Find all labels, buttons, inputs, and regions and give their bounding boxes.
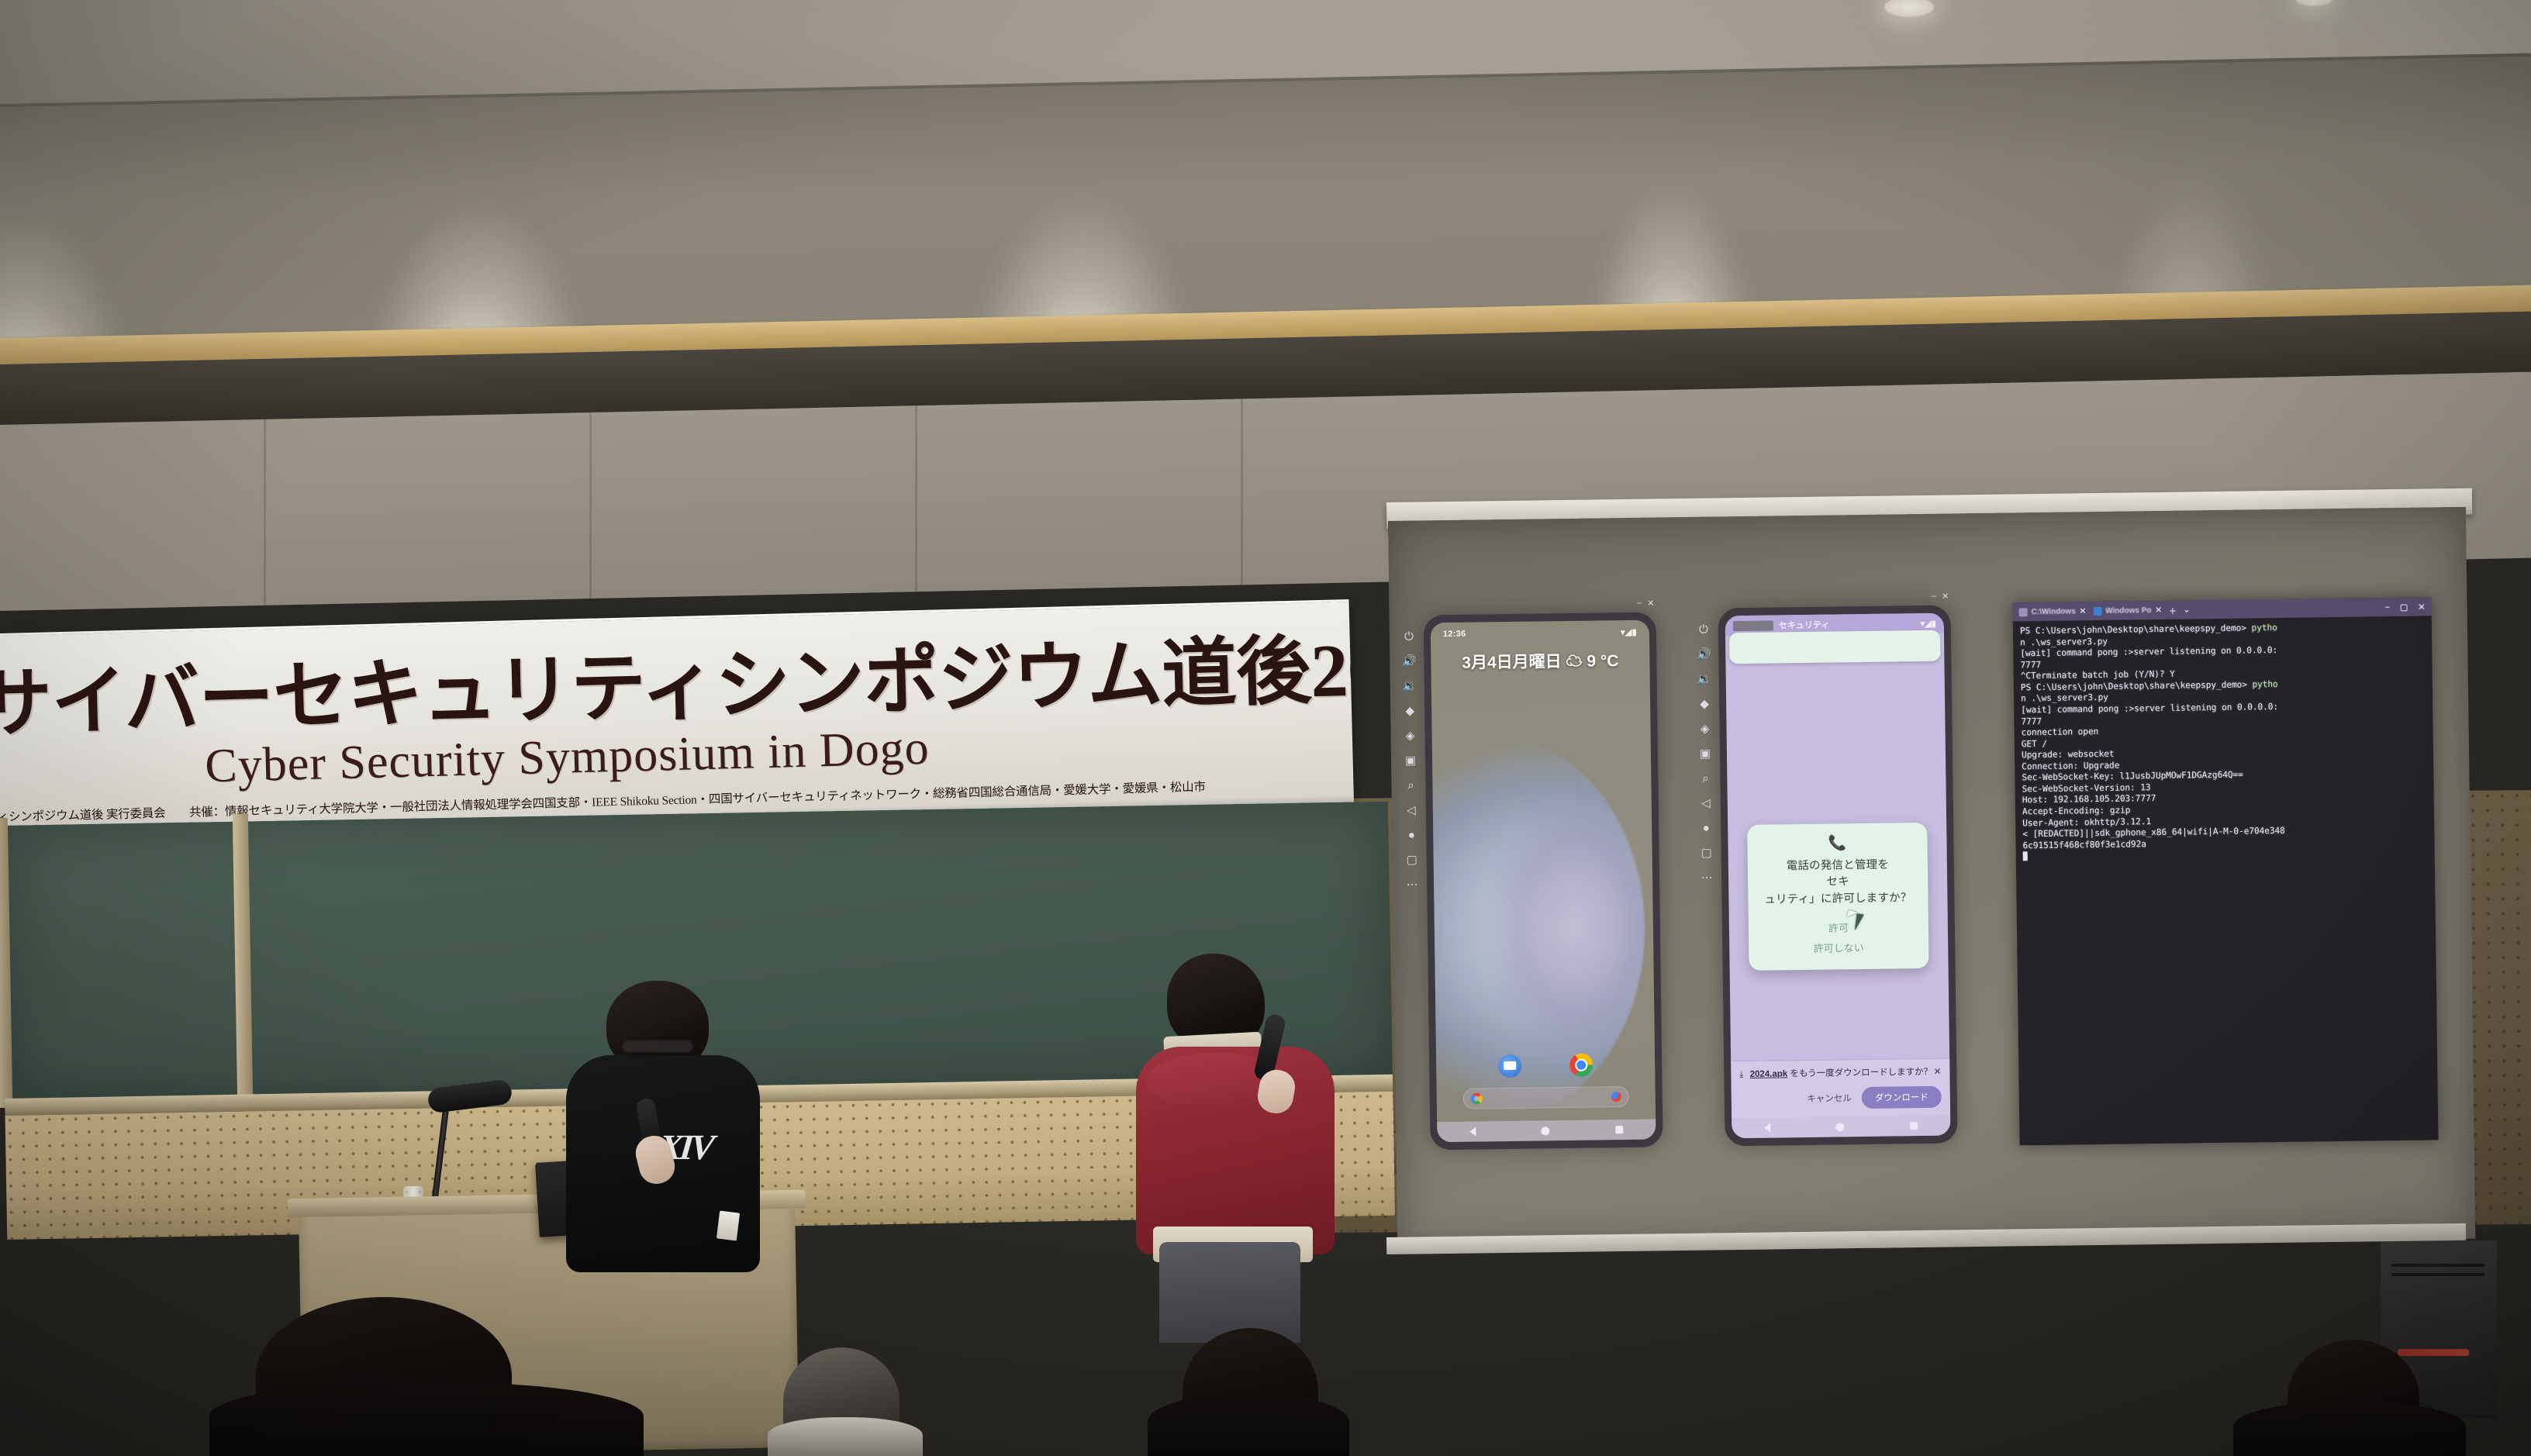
audience-member	[209, 1278, 706, 1456]
phone2-screen[interactable]: セキュリティ ▾◢▮ 📞 電話の発信と管理を セキ ュリティ」に許可しますか？ …	[1725, 613, 1951, 1139]
minimize-icon[interactable]: –	[1932, 592, 1936, 602]
redacted-app-name	[1733, 620, 1773, 631]
android-emulator-window-1[interactable]: ⏻ 🔊 🔉 ◆ ◈ ▣ ⌕ ◁ ● ▢ ⋯ – ✕	[1424, 612, 1663, 1150]
nav-back-icon[interactable]	[1469, 1127, 1476, 1137]
android-emulator-window-2[interactable]: ⏻ 🔊 🔉 ◆ ◈ ▣ ⌕ ◁ ● ▢ ⋯ – ✕	[1718, 606, 1958, 1147]
download-button[interactable]: ダウンロード	[1862, 1086, 1942, 1109]
emulator-toolbar-1[interactable]: ⏻ 🔊 🔉 ◆ ◈ ▣ ⌕ ◁ ● ▢ ⋯	[1397, 619, 1427, 1123]
zoom-icon[interactable]: ⌕	[1407, 780, 1414, 792]
overview-icon[interactable]: ▢	[1407, 854, 1417, 866]
permission-dialog[interactable]: 📞 電話の発信と管理を セキ ュリティ」に許可しますか？ 許可 許可しない	[1748, 823, 1929, 971]
chrome-icon[interactable]	[1569, 1054, 1593, 1077]
nav-home-icon[interactable]	[1542, 1127, 1550, 1135]
google-assistant-icon[interactable]	[1611, 1092, 1621, 1102]
phone1-navbar[interactable]	[1437, 1120, 1656, 1143]
tab-label: C:\Windows	[2032, 607, 2076, 616]
permission-question-line2: ュリティ」に許可しますか？	[1764, 892, 1911, 906]
glasses-icon	[622, 1040, 693, 1053]
audience-member	[2233, 1309, 2466, 1456]
nav-home-icon[interactable]	[1836, 1123, 1845, 1131]
terminal-output[interactable]: PS C:\Users\john\Desktop\share\keepspy_d…	[2013, 616, 2435, 869]
download-filename[interactable]: 2024.apk	[1750, 1070, 1788, 1080]
volume-up-icon[interactable]: 🔊	[1697, 649, 1711, 661]
download-prompt[interactable]: ⤓ 2024.apk をもう一度ダウンロードしますか？ ✕ キャンセル ダウンロ…	[1731, 1058, 1950, 1118]
minimize-icon[interactable]: –	[2385, 602, 2390, 612]
statusbar-icons: ▾◢▮	[1621, 627, 1637, 637]
phone-call-icon: 📞	[1759, 835, 1916, 852]
minimize-icon[interactable]: –	[1637, 599, 1642, 609]
close-icon[interactable]: ✕	[2080, 607, 2087, 616]
emulator-window-controls-1[interactable]: – ✕	[1637, 599, 1655, 609]
permission-question-line1: 電話の発信と管理を セキ	[1787, 857, 1946, 888]
volume-up-icon[interactable]: 🔊	[1402, 656, 1417, 668]
power-icon[interactable]: ⏻	[1404, 631, 1414, 643]
emulator-window-controls-2[interactable]: – ✕	[1932, 592, 1949, 602]
camera-icon[interactable]: ▣	[1405, 755, 1416, 767]
more-icon[interactable]: ⋯	[1407, 879, 1418, 891]
statusbar-icons: ▾◢▮	[1921, 618, 1936, 628]
volume-down-icon[interactable]: 🔉	[1697, 674, 1711, 685]
permission-deny-button[interactable]: 許可しない	[1759, 937, 1918, 960]
rotate-right-icon[interactable]: ◈	[1701, 723, 1710, 735]
back-icon[interactable]: ◁	[1407, 805, 1416, 816]
home-icon[interactable]: ●	[1703, 823, 1710, 834]
phone2-navbar[interactable]	[1732, 1116, 1950, 1139]
zoom-icon[interactable]: ⌕	[1702, 773, 1709, 785]
new-tab-icon[interactable]: ＋	[2169, 604, 2177, 616]
more-icon[interactable]: ⋯	[1701, 872, 1712, 884]
emulator-toolbar-2[interactable]: ⏻ 🔊 🔉 ◆ ◈ ▣ ⌕ ◁ ● ▢ ⋯	[1692, 612, 1722, 1119]
rotate-left-icon[interactable]: ◆	[1700, 699, 1709, 710]
close-icon[interactable]: ✕	[2155, 606, 2162, 614]
rotate-right-icon[interactable]: ◈	[1406, 730, 1415, 742]
terminal-tab-cmd[interactable]: C:\Windows ✕	[2019, 607, 2087, 616]
phone1-dock[interactable]	[1436, 1053, 1655, 1079]
projected-desktop: ⏻ 🔊 🔉 ◆ ◈ ▣ ⌕ ◁ ● ▢ ⋯ – ✕	[1415, 594, 2445, 1196]
nav-back-icon[interactable]	[1764, 1123, 1770, 1133]
appbar-title: セキュリティ	[1779, 619, 1830, 632]
camera-icon[interactable]: ▣	[1700, 748, 1711, 760]
projection-screen: ⏻ 🔊 🔉 ◆ ◈ ▣ ⌕ ◁ ● ▢ ⋯ – ✕	[1388, 507, 2475, 1253]
permission-allow-button[interactable]: 許可	[1759, 917, 1918, 940]
audience-member	[768, 1332, 923, 1456]
home-date-weather-widget[interactable]: 3月4日月曜日 ☁ 9 °C	[1431, 648, 1649, 675]
messages-icon[interactable]	[1498, 1054, 1521, 1078]
presenter-left: XIV	[566, 981, 768, 1291]
google-search-bar[interactable]	[1462, 1086, 1629, 1109]
ceiling-downlight	[1884, 0, 1934, 17]
browser-url-bar[interactable]	[1729, 630, 1941, 664]
cmd-icon	[2019, 608, 2028, 616]
terminal-tab-powershell[interactable]: Windows Po ✕	[2093, 606, 2162, 615]
powershell-icon	[2093, 606, 2101, 615]
terminal-command-token: pytho	[2252, 679, 2277, 689]
download-prompt-text: をもう一度ダウンロードしますか？	[1790, 1068, 1932, 1078]
close-icon[interactable]: ✕	[1942, 592, 1949, 602]
phone1-screen[interactable]: 12:36 ▾◢▮ 3月4日月曜日 ☁ 9 °C	[1431, 620, 1656, 1143]
volume-down-icon[interactable]: 🔉	[1402, 681, 1417, 692]
download-icon: ⤓	[1739, 1070, 1743, 1079]
back-icon[interactable]: ◁	[1701, 798, 1711, 809]
nav-recents-icon[interactable]	[1615, 1126, 1623, 1133]
phone1-statusbar: 12:36 ▾◢▮	[1431, 627, 1649, 640]
google-g-icon	[1470, 1092, 1482, 1104]
maximize-icon[interactable]: ▢	[2400, 602, 2408, 612]
rotate-left-icon[interactable]: ◆	[1405, 706, 1414, 717]
cancel-button[interactable]: キャンセル	[1807, 1092, 1852, 1105]
close-icon[interactable]: ✕	[1647, 599, 1654, 609]
windows-terminal-window[interactable]: C:\Windows ✕ Windows Po ✕ ＋ ⌄ – ▢ ✕	[2012, 597, 2438, 1145]
terminal-command-token: pytho	[2251, 623, 2277, 633]
home-icon[interactable]: ●	[1408, 830, 1415, 841]
ceiling-downlight	[2295, 0, 2332, 6]
audience-member	[1148, 1278, 1349, 1456]
conference-hall-photo: サイバーセキュリティシンポジウム道後2024 Cyber Security Sy…	[0, 0, 2531, 1456]
statusbar-time: 12:36	[1443, 630, 1466, 640]
chevron-down-icon[interactable]: ⌄	[2184, 606, 2191, 614]
close-icon[interactable]: ✕	[1934, 1066, 1942, 1079]
close-icon[interactable]: ✕	[2418, 602, 2425, 612]
name-badge	[716, 1211, 740, 1241]
power-icon[interactable]: ⏻	[1699, 624, 1708, 636]
overview-icon[interactable]: ▢	[1701, 847, 1711, 859]
tab-label: Windows Po	[2105, 606, 2151, 616]
nav-recents-icon[interactable]	[1910, 1122, 1918, 1130]
